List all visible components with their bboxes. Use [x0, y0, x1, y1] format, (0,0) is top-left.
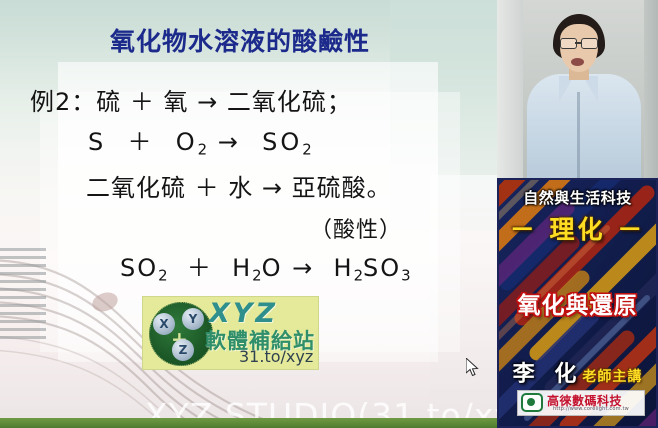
xyz-ball-z: Z: [172, 339, 194, 361]
publisher-logo-dot-icon: [527, 398, 535, 406]
course-teacher-line: 李 化老師主講: [497, 356, 658, 388]
equation-line-2: S ＋ O2 → SO2: [88, 122, 312, 158]
xyz-watermark-badge: + X Y Z XYZ 軟體補給站 31.to/xyz: [142, 296, 319, 370]
course-title-panel: 自然與生活科技 － 理化 － 氧化與還原 李 化老師主講 高徠數碼科技 http…: [497, 178, 658, 428]
slide-screenshot: 氧化物水溶液的酸鹼性 例2：硫 ＋ 氧 → 二氧化硫； S ＋ O2 → SO2…: [0, 0, 658, 428]
course-teacher-name: 李 化: [513, 362, 583, 387]
acidity-note: （酸性）: [310, 212, 402, 244]
course-field-label: － 理化 －: [497, 210, 658, 246]
equation-line-1: 例2：硫 ＋ 氧 → 二氧化硫；: [30, 82, 352, 117]
course-topic-label: 氧化與還原: [497, 286, 658, 320]
right-column: 自然與生活科技 － 理化 － 氧化與還原 李 化老師主講 高徠數碼科技 http…: [497, 0, 658, 428]
course-teacher-role: 老師主講: [582, 369, 642, 385]
instructor-video[interactable]: [497, 0, 658, 178]
video-wall-left: [497, 0, 523, 178]
instructor-mouth: [571, 58, 584, 66]
mouse-cursor-icon: [466, 358, 480, 378]
comb-stripe-decoration: [0, 248, 46, 358]
video-wall-right: [644, 0, 658, 178]
slide-title: 氧化物水溶液的酸鹼性: [0, 22, 480, 58]
publisher-logo-url: http://www.corelight.com.tw: [553, 406, 629, 412]
xyz-ball-y: Y: [182, 308, 204, 330]
instructor-shirt-placket: [577, 92, 580, 178]
glasses-bridge-icon: [575, 42, 581, 44]
xyz-ball-x: X: [153, 313, 175, 335]
glasses-lens-right-icon: [581, 38, 598, 49]
course-subject-label: 自然與生活科技: [497, 187, 658, 208]
xyz-logo-url: 31.to/xyz: [239, 347, 313, 366]
xyz-globe-icon: + X Y Z: [149, 302, 213, 366]
equation-line-3: 二氧化硫 ＋ 水 → 亞硫酸。: [86, 168, 392, 203]
publisher-logo: 高徠數碼科技 http://www.corelight.com.tw: [517, 390, 645, 416]
equation-line-5: SO2 ＋ H2O → H2SO3: [120, 248, 411, 284]
